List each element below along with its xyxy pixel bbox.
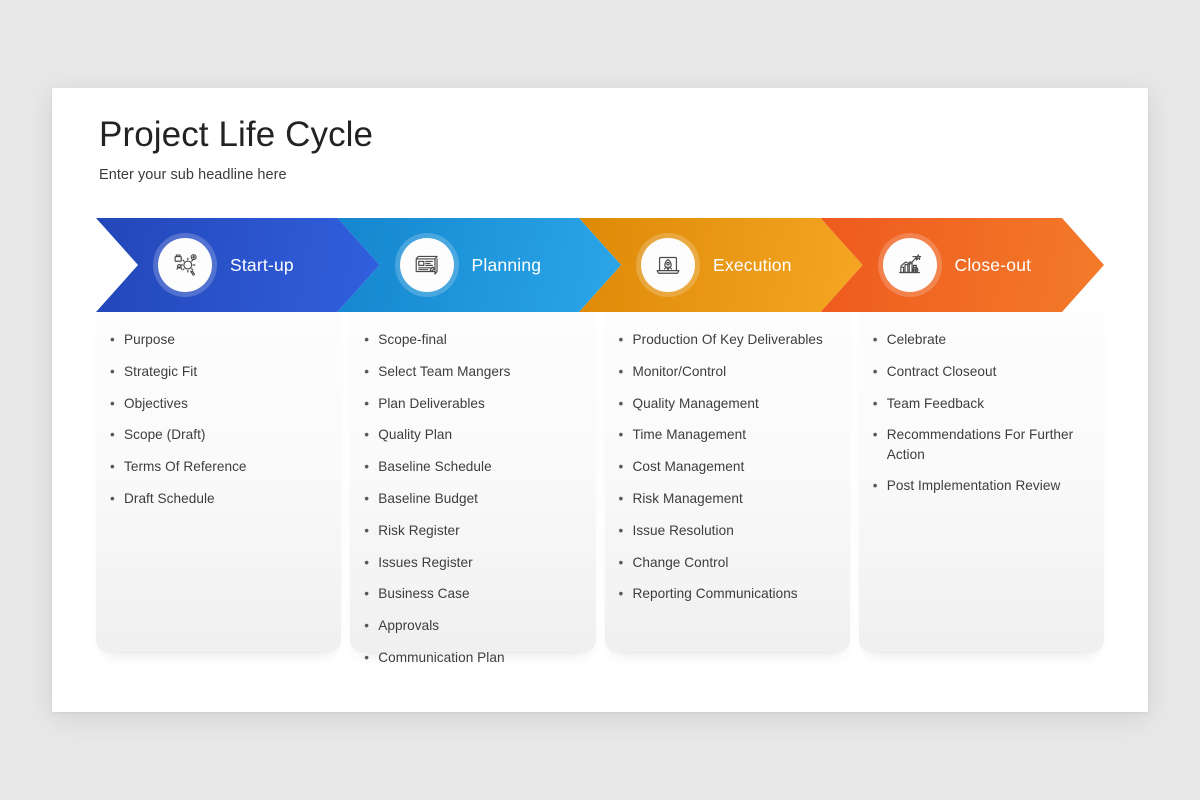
slide-header: Project Life Cycle Enter your sub headli… — [99, 115, 373, 183]
bullet-dot-icon: • — [364, 521, 378, 540]
list-item: •Baseline Budget — [364, 489, 581, 508]
stage-chevron-band: Start-up Planning Execution — [96, 218, 1104, 312]
list-item: •Contract Closeout — [873, 362, 1090, 381]
stage-label-start-up: Start-up — [230, 255, 294, 276]
bullet-dot-icon: • — [110, 425, 124, 444]
list-item: •Scope (Draft) — [110, 425, 327, 444]
list-item: •Communication Plan — [364, 648, 581, 667]
list-item-label: Production Of Key Deliverables — [633, 330, 836, 349]
list-item-label: Monitor/Control — [633, 362, 836, 381]
list-item: •Risk Management — [619, 489, 836, 508]
list-item-label: Risk Register — [378, 521, 581, 540]
bullet-dot-icon: • — [619, 553, 633, 572]
list-item: •Production Of Key Deliverables — [619, 330, 836, 349]
slide-canvas: Project Life Cycle Enter your sub headli… — [52, 88, 1148, 712]
list-item: •Scope-final — [364, 330, 581, 349]
list-item: •Risk Register — [364, 521, 581, 540]
list-item: •Reporting Communications — [619, 584, 836, 603]
stage-detail-card-execution: •Production Of Key Deliverables•Monitor/… — [605, 312, 850, 652]
bullet-dot-icon: • — [619, 521, 633, 540]
stage-chevron-execution[interactable]: Execution — [579, 218, 863, 312]
list-item-label: Post Implementation Review — [887, 476, 1090, 495]
list-item-label: Business Case — [378, 584, 581, 603]
list-item-label: Issues Register — [378, 553, 581, 572]
list-item: •Team Feedback — [873, 394, 1090, 413]
list-item-label: Communication Plan — [378, 648, 581, 667]
list-item: •Business Case — [364, 584, 581, 603]
list-item-label: Team Feedback — [887, 394, 1090, 413]
list-item: •Terms Of Reference — [110, 457, 327, 476]
bullet-dot-icon: • — [364, 553, 378, 572]
bullet-dot-icon: • — [110, 330, 124, 349]
list-item: •Issues Register — [364, 553, 581, 572]
project-setup-gear-icon — [158, 238, 212, 292]
list-item: •Purpose — [110, 330, 327, 349]
stage-chevron-content: Start-up — [96, 218, 380, 312]
list-item-label: Cost Management — [633, 457, 836, 476]
bullet-dot-icon: • — [110, 394, 124, 413]
list-item: •Cost Management — [619, 457, 836, 476]
stage-label-close-out: Close-out — [955, 255, 1032, 276]
list-item: •Baseline Schedule — [364, 457, 581, 476]
list-item-label: Recommendations For Further Action — [887, 425, 1090, 464]
stage-chevron-start-up[interactable]: Start-up — [96, 218, 380, 312]
stage-chevron-content: Close-out — [821, 218, 1105, 312]
list-item-label: Baseline Schedule — [378, 457, 581, 476]
list-item-label: Strategic Fit — [124, 362, 327, 381]
list-item: •Draft Schedule — [110, 489, 327, 508]
list-item-label: Baseline Budget — [378, 489, 581, 508]
bullet-dot-icon: • — [110, 362, 124, 381]
bullet-dot-icon: • — [619, 394, 633, 413]
stage-chevron-close-out[interactable]: Close-out — [821, 218, 1105, 312]
stage-detail-card-start-up: •Purpose•Strategic Fit•Objectives•Scope … — [96, 312, 341, 652]
bullet-dot-icon: • — [619, 489, 633, 508]
bullet-dot-icon: • — [619, 584, 633, 603]
list-item: •Quality Plan — [364, 425, 581, 444]
list-item-label: Quality Management — [633, 394, 836, 413]
bullet-dot-icon: • — [364, 616, 378, 635]
stage-detail-row: •Purpose•Strategic Fit•Objectives•Scope … — [96, 312, 1104, 652]
bullet-dot-icon: • — [364, 584, 378, 603]
stage-chevron-content: Planning — [338, 218, 622, 312]
bullet-dot-icon: • — [364, 330, 378, 349]
stage-bullet-list-planning: •Scope-final•Select Team Mangers•Plan De… — [364, 330, 581, 667]
list-item: •Recommendations For Further Action — [873, 425, 1090, 464]
list-item: •Approvals — [364, 616, 581, 635]
stage-bullet-list-start-up: •Purpose•Strategic Fit•Objectives•Scope … — [110, 330, 327, 508]
list-item: •Objectives — [110, 394, 327, 413]
list-item-label: Scope (Draft) — [124, 425, 327, 444]
list-item-label: Draft Schedule — [124, 489, 327, 508]
stage-chevron-planning[interactable]: Planning — [338, 218, 622, 312]
bullet-dot-icon: • — [364, 489, 378, 508]
bullet-dot-icon: • — [110, 457, 124, 476]
list-item: •Monitor/Control — [619, 362, 836, 381]
list-item: •Plan Deliverables — [364, 394, 581, 413]
stage-label-planning: Planning — [472, 255, 542, 276]
stage-detail-card-close-out: •Celebrate•Contract Closeout•Team Feedba… — [859, 312, 1104, 652]
stage-bullet-list-close-out: •Celebrate•Contract Closeout•Team Feedba… — [873, 330, 1090, 496]
bullet-dot-icon: • — [364, 425, 378, 444]
list-item-label: Issue Resolution — [633, 521, 836, 540]
list-item-label: Risk Management — [633, 489, 836, 508]
list-item-label: Plan Deliverables — [378, 394, 581, 413]
bullet-dot-icon: • — [619, 330, 633, 349]
stage-label-execution: Execution — [713, 255, 792, 276]
bullet-dot-icon: • — [364, 362, 378, 381]
list-item-label: Contract Closeout — [887, 362, 1090, 381]
list-item-label: Terms Of Reference — [124, 457, 327, 476]
list-item-label: Change Control — [633, 553, 836, 572]
bullet-dot-icon: • — [873, 425, 887, 444]
bullet-dot-icon: • — [364, 457, 378, 476]
list-item: •Celebrate — [873, 330, 1090, 349]
page-title: Project Life Cycle — [99, 115, 373, 154]
bullet-dot-icon: • — [110, 489, 124, 508]
list-item: •Time Management — [619, 425, 836, 444]
bullet-dot-icon: • — [619, 457, 633, 476]
list-item-label: Quality Plan — [378, 425, 581, 444]
list-item-label: Scope-final — [378, 330, 581, 349]
blueprint-plan-icon — [400, 238, 454, 292]
list-item: •Post Implementation Review — [873, 476, 1090, 495]
list-item: •Quality Management — [619, 394, 836, 413]
list-item: •Change Control — [619, 553, 836, 572]
list-item-label: Purpose — [124, 330, 327, 349]
list-item-label: Select Team Mangers — [378, 362, 581, 381]
rocket-launch-laptop-icon — [641, 238, 695, 292]
list-item: •Issue Resolution — [619, 521, 836, 540]
bullet-dot-icon: • — [873, 476, 887, 495]
bullet-dot-icon: • — [364, 648, 378, 667]
stage-detail-card-planning: •Scope-final•Select Team Mangers•Plan De… — [350, 312, 595, 652]
bullet-dot-icon: • — [873, 362, 887, 381]
list-item-label: Time Management — [633, 425, 836, 444]
page-subtitle: Enter your sub headline here — [99, 167, 373, 183]
stage-bullet-list-execution: •Production Of Key Deliverables•Monitor/… — [619, 330, 836, 604]
bullet-dot-icon: • — [873, 394, 887, 413]
list-item-label: Reporting Communications — [633, 584, 836, 603]
list-item-label: Objectives — [124, 394, 327, 413]
stage-chevron-content: Execution — [579, 218, 863, 312]
growth-chart-star-icon — [883, 238, 937, 292]
list-item: •Strategic Fit — [110, 362, 327, 381]
bullet-dot-icon: • — [364, 394, 378, 413]
list-item: •Select Team Mangers — [364, 362, 581, 381]
list-item-label: Celebrate — [887, 330, 1090, 349]
bullet-dot-icon: • — [619, 362, 633, 381]
bullet-dot-icon: • — [873, 330, 887, 349]
list-item-label: Approvals — [378, 616, 581, 635]
bullet-dot-icon: • — [619, 425, 633, 444]
